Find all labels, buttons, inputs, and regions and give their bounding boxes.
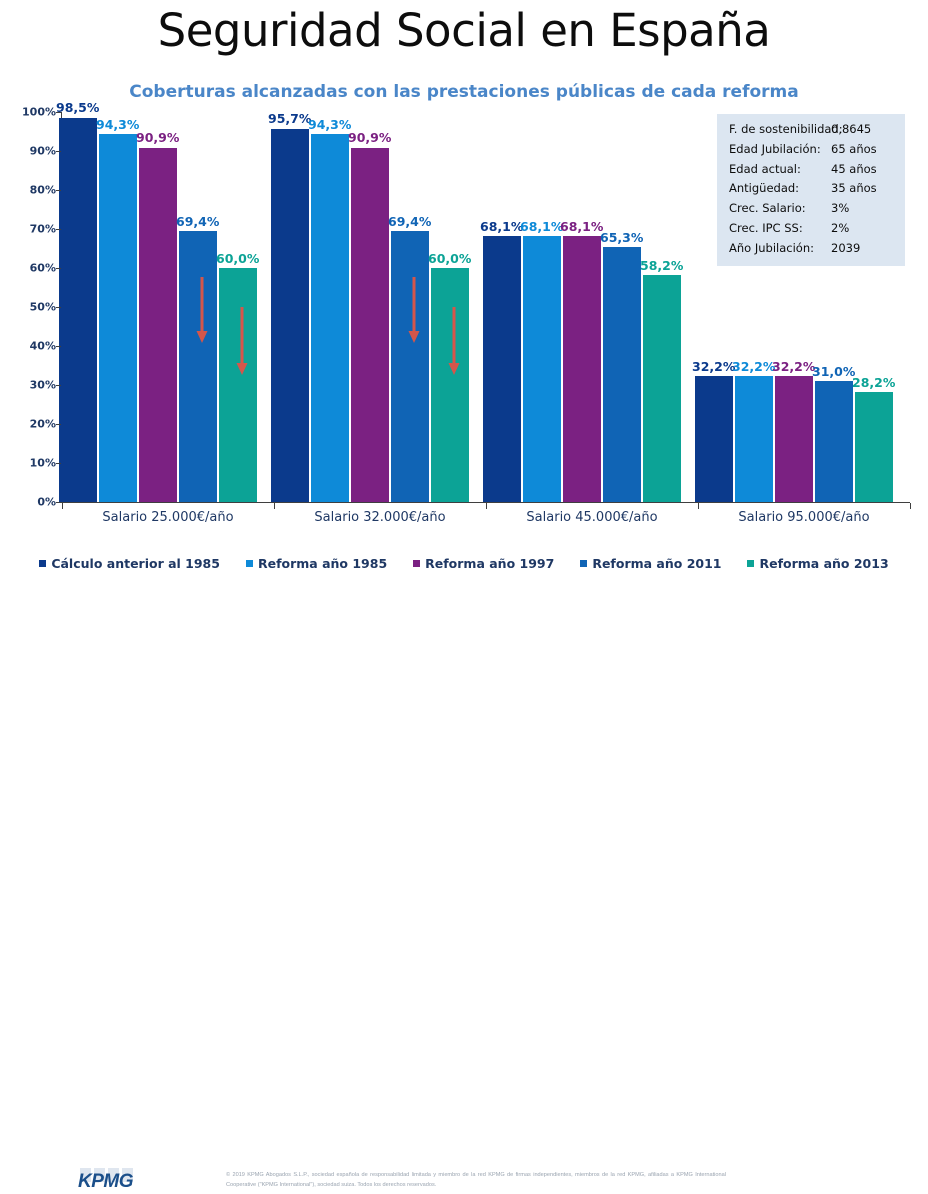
x-axis-category-label: Salario 95.000€/año [698,510,910,525]
x-axis-category-label: Salario 32.000€/año [274,510,486,525]
y-axis-tick-label: 100% [22,106,56,119]
y-axis-tick-mark [56,463,61,464]
legend-swatch-icon [246,560,253,567]
legend-swatch-icon [413,560,420,567]
bar-value-label: 98,5% [56,102,99,115]
bar-value-label: 60,0% [216,253,259,266]
legend-item[interactable]: Reforma año 2013 [747,556,888,571]
bar [219,268,257,502]
bar-value-label: 68,1% [520,221,563,234]
legend-item[interactable]: Reforma año 2011 [580,556,721,571]
bar [311,134,349,502]
bar [99,134,137,502]
x-axis-separator-tick [274,503,275,509]
bar [59,118,97,502]
info-row-key: Antigüedad: [729,179,831,199]
info-row-value: 65 años [831,140,895,160]
x-axis-separator-tick [910,503,911,509]
y-axis-tick-label: 20% [22,418,56,431]
y-axis-tick-label: 90% [22,145,56,158]
arrow-down-group2-reforma2013 [447,307,461,380]
legend-swatch-icon [747,560,754,567]
x-axis-separator-tick [698,503,699,509]
bar [735,376,773,502]
info-row: Año Jubilación:2039 [729,239,895,259]
info-row-value: 2% [831,219,895,239]
bar-value-label: 94,3% [308,119,351,132]
legend-item-label: Reforma año 1997 [425,556,554,571]
info-row: Edad actual:45 años [729,160,895,180]
arrow-down-group1-reforma2013 [235,307,249,380]
info-row-key: F. de sostenibilidad: [729,120,831,140]
y-axis-tick-mark [56,307,61,308]
legend-item[interactable]: Reforma año 1997 [413,556,554,571]
bar-value-label: 58,2% [640,260,683,273]
bar [695,376,733,502]
bar [139,148,177,503]
info-row-value: 45 años [831,160,895,180]
bar-value-label: 60,0% [428,253,471,266]
page-title: Seguridad Social en España [0,6,928,56]
y-axis: 0%10%20%30%40%50%60%70%80%90%100% [18,112,56,502]
info-row-key: Crec. Salario: [729,199,831,219]
bar [603,247,641,502]
bar-value-label: 95,7% [268,113,311,126]
y-axis-tick-mark [56,112,61,113]
info-row-value: 3% [831,199,895,219]
bar [271,129,309,502]
info-row: F. de sostenibilidad:0,8645 [729,120,895,140]
x-axis-category-label: Salario 25.000€/año [62,510,274,525]
bar-value-label: 32,2% [732,361,775,374]
legend-swatch-icon [580,560,587,567]
y-axis-tick-mark [56,385,61,386]
info-row-value: 35 años [831,179,895,199]
y-axis-tick-label: 60% [22,262,56,275]
y-axis-tick-mark [56,346,61,347]
copyright-text: © 2019 KPMG Abogados S.L.P., sociedad es… [226,1170,726,1191]
legend-item-label: Reforma año 2013 [759,556,888,571]
x-axis-separator-tick [486,503,487,509]
info-row: Edad Jubilación:65 años [729,140,895,160]
y-axis-tick-label: 40% [22,340,56,353]
bar-value-label: 94,3% [96,119,139,132]
bar-value-label: 28,2% [852,377,895,390]
info-row-key: Crec. IPC SS: [729,219,831,239]
x-axis-category-label: Salario 45.000€/año [486,510,698,525]
footer: KPMG © 2019 KPMG Abogados S.L.P., socied… [0,582,928,621]
bar [179,231,217,502]
bar [775,376,813,502]
y-axis-tick-mark [56,268,61,269]
kpmg-logo-text: KPMG [78,1171,133,1193]
info-row-value: 0,8645 [831,120,895,140]
y-axis-tick-label: 30% [22,379,56,392]
y-axis-tick-mark [56,229,61,230]
legend-item[interactable]: Cálculo anterior al 1985 [39,556,220,571]
bar-value-label: 32,2% [772,361,815,374]
info-row-value: 2039 [831,239,895,259]
legend-item[interactable]: Reforma año 1985 [246,556,387,571]
info-row: Crec. IPC SS:2% [729,219,895,239]
y-axis-tick-mark [56,502,61,503]
bar [563,236,601,502]
bar [431,268,469,502]
bar [523,236,561,502]
x-axis-separator-tick [62,503,63,509]
bar [351,148,389,503]
bar-value-label: 69,4% [388,216,431,229]
y-axis-tick-label: 80% [22,184,56,197]
info-row-key: Año Jubilación: [729,239,831,259]
bar [391,231,429,502]
bar [483,236,521,502]
legend-item-label: Reforma año 2011 [592,556,721,571]
bar-value-label: 65,3% [600,232,643,245]
y-axis-tick-mark [56,190,61,191]
chart-legend: Cálculo anterior al 1985Reforma año 1985… [0,556,928,571]
y-axis-tick-label: 10% [22,457,56,470]
bar-value-label: 90,9% [348,132,391,145]
bar-value-label: 90,9% [136,132,179,145]
parameters-info-box: F. de sostenibilidad:0,8645Edad Jubilaci… [717,114,905,266]
y-axis-tick-label: 50% [22,301,56,314]
legend-item-label: Reforma año 1985 [258,556,387,571]
arrow-down-group1-reforma2011 [195,277,209,348]
bar-value-label: 68,1% [480,221,523,234]
bar-group: 68,1%68,1%68,1%65,3%58,2% [486,112,698,502]
arrow-down-group2-reforma2011 [407,277,421,348]
bar [643,275,681,502]
bar [815,381,853,502]
bar-value-label: 69,4% [176,216,219,229]
y-axis-tick-mark [56,151,61,152]
y-axis-tick-label: 0% [22,496,56,509]
bar-value-label: 68,1% [560,221,603,234]
bar-value-label: 31,0% [812,366,855,379]
y-axis-tick-label: 70% [22,223,56,236]
bar-value-label: 32,2% [692,361,735,374]
info-row: Crec. Salario:3% [729,199,895,219]
page-subtitle: Coberturas alcanzadas con las prestacion… [0,82,928,102]
info-row-key: Edad actual: [729,160,831,180]
info-row: Antigüedad:35 años [729,179,895,199]
y-axis-tick-mark [56,424,61,425]
info-row-key: Edad Jubilación: [729,140,831,160]
bar [855,392,893,502]
legend-swatch-icon [39,560,46,567]
kpmg-logo: KPMG [78,1168,150,1194]
legend-item-label: Cálculo anterior al 1985 [51,556,220,571]
